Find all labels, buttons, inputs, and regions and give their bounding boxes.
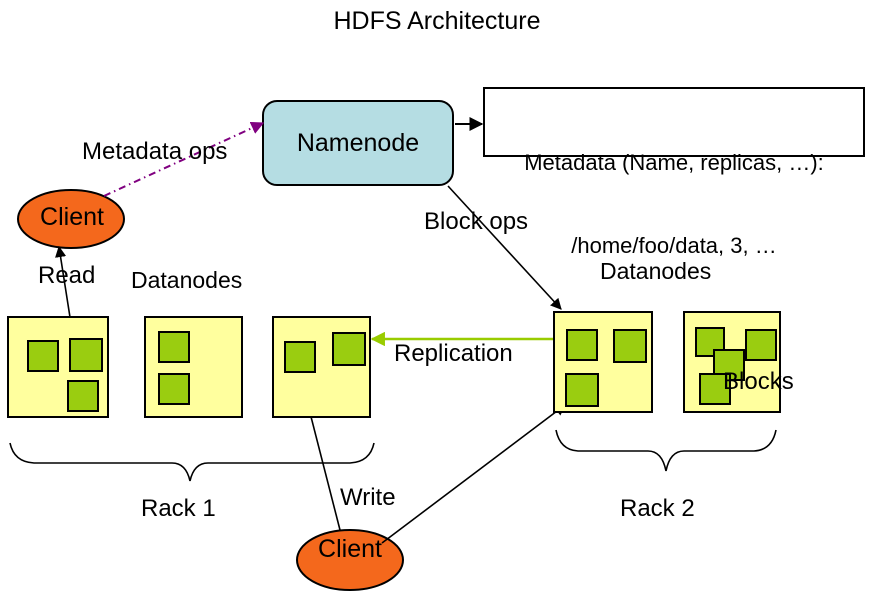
read-label: Read (38, 263, 95, 288)
rack2-datanode-1-block-3[interactable] (566, 374, 598, 406)
rack1-datanode-3-block-1[interactable] (285, 342, 315, 372)
rack1-datanode-3[interactable] (273, 317, 370, 417)
blocks-label: Blocks (723, 369, 794, 394)
metadata-line-1: Metadata (Name, replicas, …): (484, 149, 864, 177)
client-top-label: Client (22, 203, 122, 232)
metadata-line-2: /home/foo/data, 3, … (484, 232, 864, 260)
rack1-datanode-3-block-2[interactable] (333, 333, 365, 365)
page-title: HDFS Architecture (0, 8, 874, 34)
rack1-datanode-1[interactable] (8, 317, 108, 417)
rack1-datanode-1-block-1[interactable] (28, 341, 58, 371)
rack1-datanode-1-block-2[interactable] (70, 339, 102, 371)
rack-1-label: Rack 1 (141, 496, 216, 521)
client-bottom-label: Client (300, 535, 400, 564)
rack2-datanode-2[interactable] (684, 312, 780, 412)
rack-2-label: Rack 2 (620, 496, 695, 521)
datanodes-right-label: Datanodes (600, 259, 711, 283)
rack1-datanode-1-block-3[interactable] (68, 381, 98, 411)
hdfs-architecture-diagram: HDFS Architecture Namenode Metadata (Nam… (0, 0, 874, 604)
rack2-datanode-1-block-1[interactable] (567, 330, 597, 360)
rack1-datanode-2[interactable] (145, 317, 242, 417)
rack1-datanode-2-block-1[interactable] (159, 332, 189, 362)
rack2-datanode-1-block-2[interactable] (614, 330, 646, 362)
write-label: Write (340, 485, 396, 510)
namenode-label: Namenode (263, 129, 453, 158)
rack2-datanode-1[interactable] (554, 312, 652, 412)
datanodes-left-label: Datanodes (131, 268, 242, 292)
replication-label: Replication (394, 341, 513, 366)
block-ops-label: Block ops (424, 209, 528, 234)
metadata-ops-label: Metadata ops (82, 139, 227, 164)
rack2-datanode-2-block-4[interactable] (746, 330, 776, 360)
rack1-datanode-2-block-2[interactable] (159, 374, 189, 404)
